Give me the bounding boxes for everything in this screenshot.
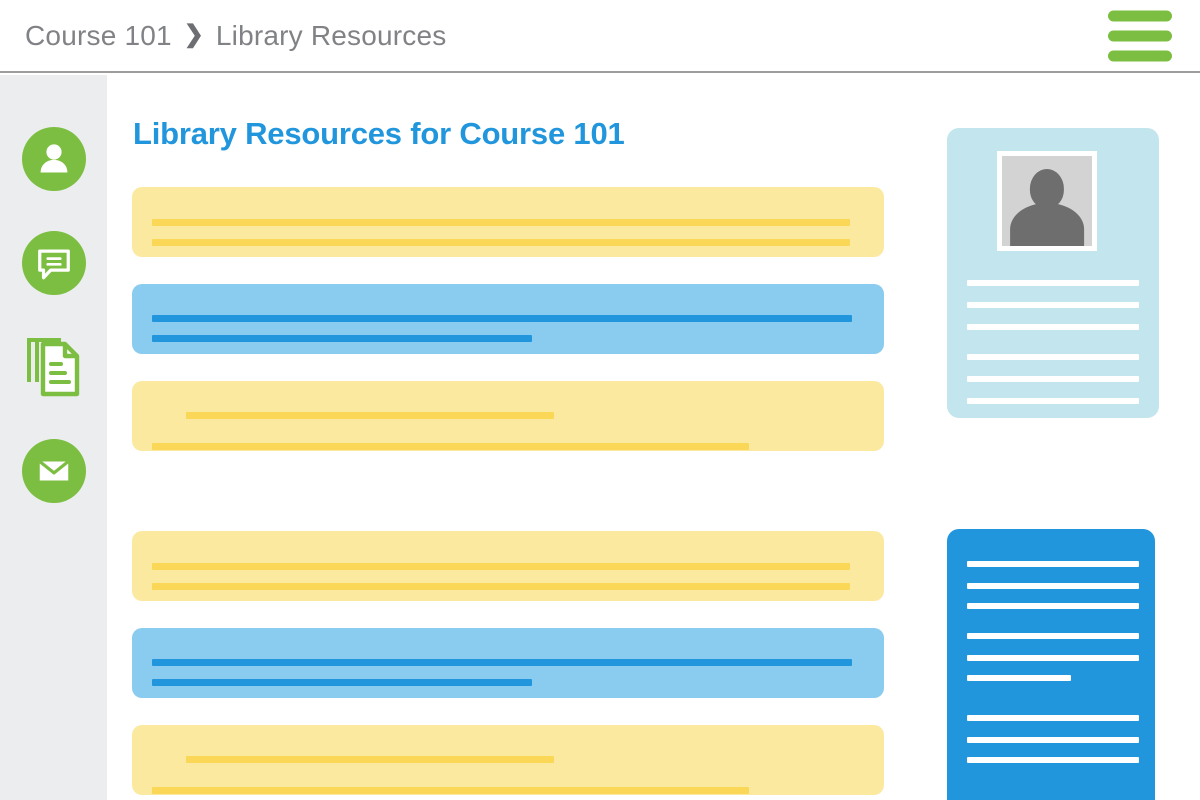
placeholder-line xyxy=(152,239,850,246)
placeholder-line xyxy=(186,756,554,763)
hamburger-bar-3 xyxy=(1108,50,1172,61)
resource-card-2[interactable] xyxy=(132,284,884,354)
placeholder-line xyxy=(152,335,532,342)
page-title: Library Resources for Course 101 xyxy=(133,116,625,152)
hamburger-bar-1 xyxy=(1108,10,1172,21)
user-profile-icon xyxy=(22,127,86,191)
sidebar-item-messages[interactable] xyxy=(0,211,107,315)
placeholder-line xyxy=(967,354,1139,360)
placeholder-line xyxy=(152,219,850,226)
placeholder-line xyxy=(967,324,1139,330)
placeholder-line xyxy=(152,443,749,450)
sidebar-item-documents[interactable] xyxy=(0,315,107,419)
resource-list xyxy=(132,187,884,795)
main-content: Library Resources for Course 101 xyxy=(107,75,1200,800)
mail-envelope-icon xyxy=(22,439,86,503)
placeholder-line xyxy=(967,583,1139,589)
placeholder-line xyxy=(967,398,1139,404)
placeholder-line xyxy=(967,757,1139,763)
chat-bubble-icon xyxy=(22,231,86,295)
profile-preview-card[interactable] xyxy=(947,128,1159,418)
avatar-body xyxy=(1010,203,1084,246)
avatar-placeholder-icon xyxy=(1002,156,1092,246)
resource-card-3[interactable] xyxy=(132,381,884,451)
breadcrumb: Course 101 ❯ Library Resources xyxy=(25,20,446,52)
hamburger-menu-icon[interactable] xyxy=(1108,10,1172,61)
chevron-right-icon: ❯ xyxy=(184,23,204,47)
document-preview-card[interactable] xyxy=(947,529,1155,800)
top-header: Course 101 ❯ Library Resources xyxy=(0,0,1200,73)
placeholder-line xyxy=(967,280,1139,286)
hamburger-bar-2 xyxy=(1108,30,1172,41)
placeholder-line xyxy=(967,737,1139,743)
sidebar-item-mail[interactable] xyxy=(0,419,107,523)
app-root: Course 101 ❯ Library Resources xyxy=(0,0,1200,800)
placeholder-line xyxy=(967,302,1139,308)
resource-card-6[interactable] xyxy=(132,725,884,795)
placeholder-line xyxy=(967,376,1139,382)
breadcrumb-current[interactable]: Library Resources xyxy=(216,20,447,52)
resource-card-1[interactable] xyxy=(132,187,884,257)
placeholder-line xyxy=(967,633,1139,639)
resource-card-5[interactable] xyxy=(132,628,884,698)
placeholder-line xyxy=(967,655,1139,661)
documents-icon xyxy=(19,332,89,402)
breadcrumb-course[interactable]: Course 101 xyxy=(25,20,172,52)
sidebar-item-profile[interactable] xyxy=(0,107,107,211)
placeholder-line xyxy=(152,315,852,322)
placeholder-line xyxy=(152,583,850,590)
right-column xyxy=(947,128,1159,418)
avatar xyxy=(997,151,1097,251)
placeholder-line xyxy=(967,715,1139,721)
placeholder-line xyxy=(152,563,850,570)
resource-card-4[interactable] xyxy=(132,531,884,601)
placeholder-line xyxy=(152,787,749,794)
placeholder-line xyxy=(152,659,852,666)
placeholder-line xyxy=(152,679,532,686)
placeholder-line xyxy=(967,675,1071,681)
placeholder-line xyxy=(967,561,1139,567)
left-sidebar xyxy=(0,75,107,800)
placeholder-line xyxy=(186,412,554,419)
placeholder-line xyxy=(967,603,1139,609)
